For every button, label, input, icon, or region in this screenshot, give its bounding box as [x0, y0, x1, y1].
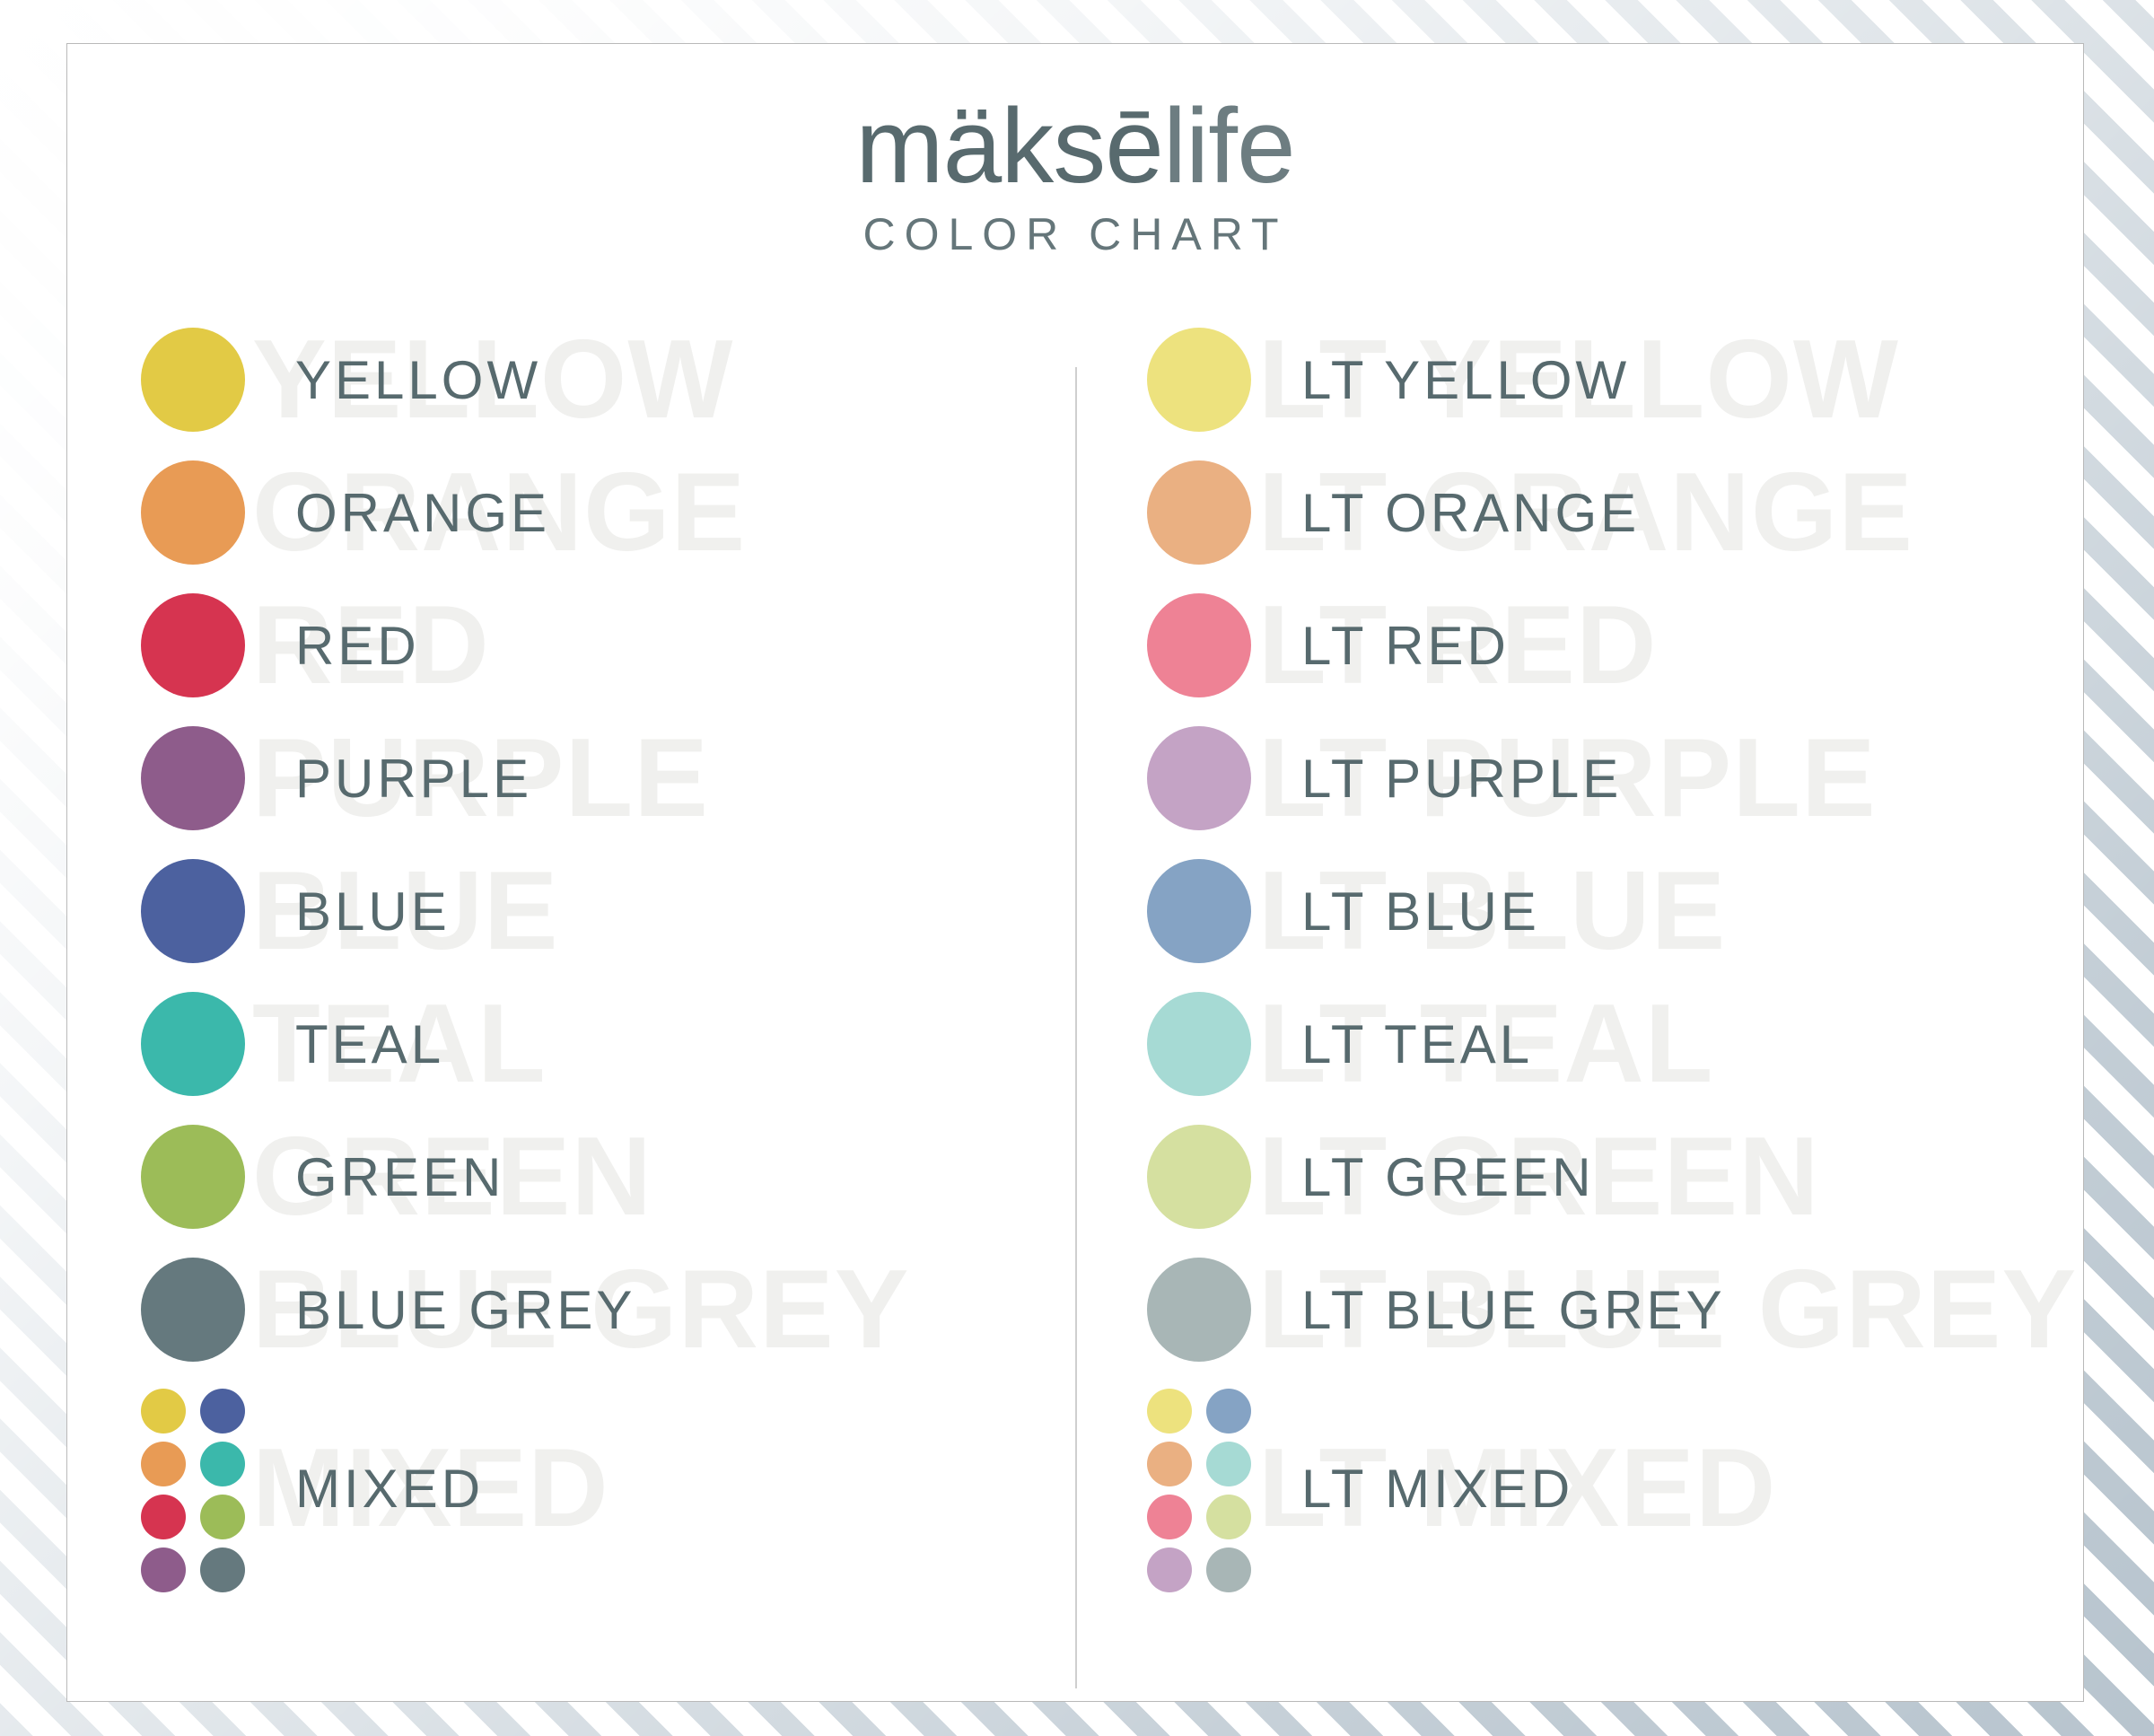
color-swatch[interactable] — [1147, 460, 1251, 565]
color-row[interactable]: LT YELLOWLT YELLOW — [1147, 313, 2083, 446]
color-row[interactable]: LT TEALLT TEAL — [1147, 978, 2083, 1110]
mixed-swatch-dot[interactable] — [1206, 1495, 1251, 1539]
mixed-swatch-dot[interactable] — [141, 1389, 186, 1434]
color-row[interactable]: REDRED — [141, 579, 1075, 712]
color-label: LT RED — [1301, 615, 1510, 677]
mixed-swatch-dot[interactable] — [200, 1442, 245, 1486]
light-colors-column: LT YELLOWLT YELLOWLT ORANGELT ORANGELT R… — [1075, 313, 2083, 1660]
color-label-zone: YELLOWYELLOW — [295, 313, 1075, 446]
mixed-swatch-dot[interactable] — [1206, 1389, 1251, 1434]
color-swatch[interactable] — [141, 593, 245, 697]
color-row[interactable]: PURPLEPURPLE — [141, 712, 1075, 845]
color-swatch[interactable] — [1147, 593, 1251, 697]
color-label-zone: BLUEBLUE — [295, 845, 1075, 978]
color-label-zone: GREENGREEN — [295, 1110, 1075, 1243]
color-swatch[interactable] — [141, 859, 245, 963]
color-columns: YELLOWYELLOWORANGEORANGEREDREDPURPLEPURP… — [67, 313, 2083, 1660]
color-label-zone: LT GREENLT GREEN — [1301, 1110, 2083, 1243]
color-row[interactable]: MIXEDMIXED — [141, 1376, 1075, 1600]
chart-card: mäksēlife COLOR CHART YELLOWYELLOWORANGE… — [66, 43, 2084, 1702]
standard-colors-column: YELLOWYELLOWORANGEORANGEREDREDPURPLEPURP… — [67, 313, 1075, 1660]
mixed-swatch-dot[interactable] — [200, 1389, 245, 1434]
color-label-zone: PURPLEPURPLE — [295, 712, 1075, 845]
mixed-swatch-dot[interactable] — [1147, 1442, 1192, 1486]
mixed-swatch-dot[interactable] — [141, 1547, 186, 1592]
brand-logo-primary: mäksē — [855, 87, 1163, 206]
color-row[interactable]: BLUE GREYBLUE GREY — [141, 1243, 1075, 1376]
color-row[interactable]: LT ORANGELT ORANGE — [1147, 446, 2083, 579]
color-swatch[interactable] — [1147, 859, 1251, 963]
color-label-zone: LT REDLT RED — [1301, 579, 2083, 712]
color-row[interactable]: LT MIXEDLT MIXED — [1147, 1376, 2083, 1600]
mixed-swatch-dot[interactable] — [141, 1442, 186, 1486]
color-label: LT TEAL — [1301, 1013, 1533, 1075]
color-label-zone: LT BLUE GREYLT BLUE GREY — [1301, 1243, 2083, 1376]
color-row[interactable]: BLUEBLUE — [141, 845, 1075, 978]
color-label-zone: LT ORANGELT ORANGE — [1301, 446, 2083, 579]
color-swatch[interactable] — [1147, 1258, 1251, 1362]
mixed-swatch-dot[interactable] — [141, 1495, 186, 1539]
mixed-swatch-grid[interactable] — [141, 1389, 245, 1588]
color-label-zone: ORANGEORANGE — [295, 446, 1075, 579]
brand-logo: mäksēlife — [67, 91, 2083, 203]
color-row[interactable]: YELLOWYELLOW — [141, 313, 1075, 446]
color-row[interactable]: LT GREENLT GREEN — [1147, 1110, 2083, 1243]
color-label: ORANGE — [295, 482, 550, 544]
color-swatch[interactable] — [141, 726, 245, 830]
color-label: PURPLE — [295, 748, 532, 810]
color-swatch[interactable] — [1147, 992, 1251, 1096]
color-swatch[interactable] — [141, 992, 245, 1096]
color-label-zone: MIXEDMIXED — [295, 1376, 1075, 1600]
color-label-zone: LT BLUELT BLUE — [1301, 845, 2083, 978]
color-chart-page: mäksēlife COLOR CHART YELLOWYELLOWORANGE… — [0, 0, 2154, 1736]
color-swatch[interactable] — [141, 460, 245, 565]
mixed-swatch-dot[interactable] — [1206, 1547, 1251, 1592]
color-row[interactable]: LT BLUE GREYLT BLUE GREY — [1147, 1243, 2083, 1376]
mixed-swatch-dot[interactable] — [1147, 1495, 1192, 1539]
color-label: YELLOW — [295, 349, 541, 411]
color-swatch[interactable] — [1147, 1125, 1251, 1229]
brand-logo-secondary: life — [1163, 87, 1295, 206]
color-row[interactable]: LT REDLT RED — [1147, 579, 2083, 712]
color-row[interactable]: TEALTEAL — [141, 978, 1075, 1110]
color-label: LT BLUE GREY — [1301, 1279, 1726, 1341]
color-label: BLUE GREY — [295, 1279, 635, 1341]
color-label: LT BLUE — [1301, 881, 1540, 943]
mixed-swatch-dot[interactable] — [1147, 1547, 1192, 1592]
color-label-zone: LT YELLOWLT YELLOW — [1301, 313, 2083, 446]
color-label-zone: LT PURPLELT PURPLE — [1301, 712, 2083, 845]
color-swatch[interactable] — [1147, 726, 1251, 830]
color-label-zone: BLUE GREYBLUE GREY — [295, 1243, 1075, 1376]
color-label-zone: LT TEALLT TEAL — [1301, 978, 2083, 1110]
mixed-swatch-grid[interactable] — [1147, 1389, 1251, 1588]
mixed-swatch-dot[interactable] — [1147, 1389, 1192, 1434]
color-row[interactable]: LT PURPLELT PURPLE — [1147, 712, 2083, 845]
mixed-swatch-dot[interactable] — [200, 1495, 245, 1539]
color-row[interactable]: GREENGREEN — [141, 1110, 1075, 1243]
color-label: LT ORANGE — [1301, 482, 1640, 544]
color-label-zone: LT MIXEDLT MIXED — [1301, 1376, 2083, 1600]
color-label-zone: REDRED — [295, 579, 1075, 712]
color-label: BLUE — [295, 881, 451, 943]
chart-subtitle: COLOR CHART — [67, 208, 2083, 260]
color-label: LT PURPLE — [1301, 748, 1622, 810]
color-label: RED — [295, 615, 420, 677]
mixed-swatch-dot[interactable] — [1206, 1442, 1251, 1486]
color-swatch[interactable] — [141, 1125, 245, 1229]
color-swatch[interactable] — [1147, 328, 1251, 432]
color-label: TEAL — [295, 1013, 444, 1075]
color-label: LT MIXED — [1301, 1458, 1573, 1520]
color-swatch[interactable] — [141, 1258, 245, 1362]
mixed-swatch-dot[interactable] — [200, 1547, 245, 1592]
color-label: LT YELLOW — [1301, 349, 1630, 411]
color-swatch[interactable] — [141, 328, 245, 432]
color-label: MIXED — [295, 1458, 484, 1520]
color-label-zone: TEALTEAL — [295, 978, 1075, 1110]
color-label: GREEN — [295, 1146, 504, 1208]
color-label: LT GREEN — [1301, 1146, 1595, 1208]
color-row[interactable]: ORANGEORANGE — [141, 446, 1075, 579]
chart-header: mäksēlife COLOR CHART — [67, 91, 2083, 260]
color-row[interactable]: LT BLUELT BLUE — [1147, 845, 2083, 978]
